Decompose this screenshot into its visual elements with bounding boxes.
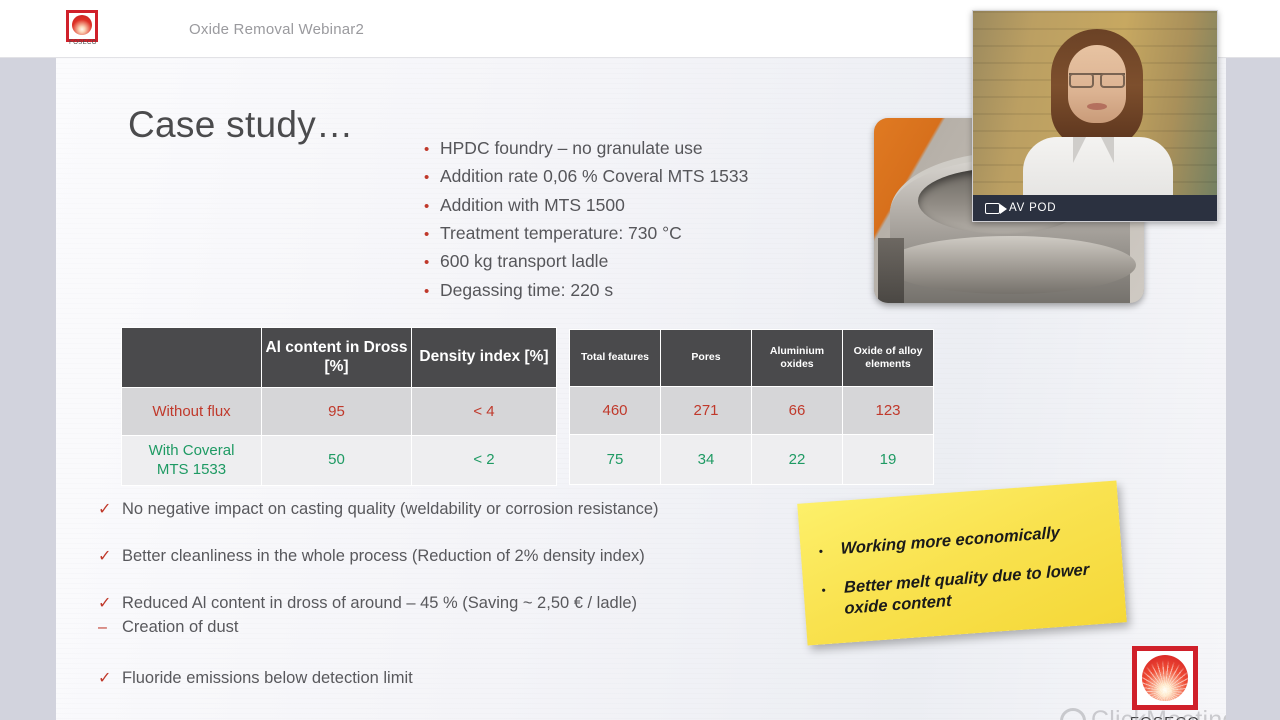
list-item: ✓ Reduced Al content in dross of around … [98, 594, 798, 614]
table-cell: < 2 [412, 436, 557, 486]
check-text: Better cleanliness in the whole process … [122, 547, 645, 567]
header-line2: oxides [756, 358, 838, 371]
bullet-dot-icon: • [424, 284, 440, 299]
bullet-dot-icon: • [424, 142, 440, 157]
list-item: • Working more economically [818, 520, 1101, 562]
presenter-collar-left [1073, 137, 1086, 163]
check-icon: ✓ [98, 549, 122, 565]
table-cell: < 4 [412, 388, 557, 436]
dash-icon: – [98, 620, 122, 636]
bullet-list: • HPDC foundry – no granulate use • Addi… [424, 138, 824, 308]
table-header-cell [122, 328, 262, 388]
table-row: With Coveral MTS 1533 50 < 2 [122, 436, 557, 486]
table-header-cell: Total features [570, 330, 661, 387]
slide-title: Case study… [128, 104, 353, 146]
list-item: • Better melt quality due to lower oxide… [821, 559, 1105, 622]
left-band [0, 58, 56, 720]
table-cell: 460 [570, 387, 661, 435]
clickmeeting-watermark: ClickMeeting [1060, 706, 1226, 720]
list-item: • Addition with MTS 1500 [424, 195, 824, 216]
bullet-text: HPDC foundry – no granulate use [440, 138, 703, 159]
list-item: – Creation of dust [98, 618, 798, 638]
table-cell: 66 [752, 387, 843, 435]
bullet-text: 600 kg transport ladle [440, 251, 608, 272]
row-label: Without flux [122, 388, 262, 436]
bullet-text: Addition rate 0,06 % Coveral MTS 1533 [440, 166, 748, 187]
av-pod-label: AV POD [1009, 202, 1056, 214]
table-cell: 123 [843, 387, 934, 435]
sticky-note: • Working more economically • Better mel… [797, 480, 1127, 645]
header-line1: Total features [574, 351, 656, 364]
logo-wordmark: FOSECO [66, 40, 100, 46]
av-pod-label-bar[interactable]: AV POD [973, 195, 1217, 221]
bullet-dot-icon: • [818, 544, 841, 558]
table-header-row: Total features Pores Aluminium oxides Ox… [570, 330, 934, 387]
bullet-dot-icon: • [821, 583, 844, 597]
logo-orb [72, 15, 92, 35]
webinar-viewer: FOSECO Oxide Removal Webinar2 Case study… [0, 0, 1280, 720]
table-header-row: Al content in Dross [%] Density index [%… [122, 328, 557, 388]
check-icon: ✓ [98, 596, 122, 612]
webinar-title: Oxide Removal Webinar2 [189, 21, 364, 38]
bullet-text: Treatment temperature: 730 °C [440, 223, 682, 244]
header-line2: elements [847, 358, 929, 371]
photo-ladle-rim [884, 236, 1136, 294]
foseco-logo-icon: FOSECO [66, 10, 104, 48]
check-text: Creation of dust [122, 618, 238, 638]
header-line1: Pores [665, 351, 747, 364]
header-line1: Oxide of alloy [847, 345, 929, 358]
table-header-cell: Aluminium oxides [752, 330, 843, 387]
list-item: • 600 kg transport ladle [424, 251, 824, 272]
watermark-text: ClickMeeting [1091, 706, 1226, 720]
results-table-right: Total features Pores Aluminium oxides Ox… [569, 329, 934, 485]
photo-support-post [878, 238, 904, 303]
bullet-text: Addition with MTS 1500 [440, 195, 625, 216]
list-item: • Degassing time: 220 s [424, 280, 824, 301]
check-text: Reduced Al content in dross of around – … [122, 594, 637, 614]
list-item: • HPDC foundry – no granulate use [424, 138, 824, 159]
presenter-glasses [1069, 73, 1125, 84]
table-cell: 75 [570, 435, 661, 485]
bullet-dot-icon: • [424, 199, 440, 214]
check-icon: ✓ [98, 502, 122, 518]
logo-rays [1142, 655, 1188, 701]
list-item: ✓ No negative impact on casting quality … [98, 500, 798, 520]
list-item: • Addition rate 0,06 % Coveral MTS 1533 [424, 166, 824, 187]
row-label-line2: MTS 1533 [122, 461, 261, 480]
table-cell: 95 [262, 388, 412, 436]
table-cell: 19 [843, 435, 934, 485]
header-line1: Aluminium [756, 345, 838, 358]
bullet-dot-icon: • [424, 227, 440, 242]
list-item: ✓ Fluoride emissions below detection lim… [98, 669, 798, 689]
presenter-mouth [1087, 103, 1107, 110]
av-pod-panel[interactable]: AV POD [972, 10, 1218, 222]
table-header-cell: Pores [661, 330, 752, 387]
bullet-dot-icon: • [424, 170, 440, 185]
check-icon: ✓ [98, 671, 122, 687]
table-cell: 271 [661, 387, 752, 435]
table-cell: 22 [752, 435, 843, 485]
check-text: Fluoride emissions below detection limit [122, 669, 413, 689]
table-header-cell: Density index [%] [412, 328, 557, 388]
list-item: ✓ Better cleanliness in the whole proces… [98, 547, 798, 567]
table-header-cell: Al content in Dross [%] [262, 328, 412, 388]
table-cell: 34 [661, 435, 752, 485]
video-camera-icon [985, 203, 1000, 214]
check-text: No negative impact on casting quality (w… [122, 500, 659, 520]
bullet-dot-icon: • [424, 255, 440, 270]
presenter-collar-right [1101, 137, 1114, 163]
bullet-text: Degassing time: 220 s [440, 280, 613, 301]
row-label: With Coveral MTS 1533 [122, 436, 262, 486]
list-item: • Treatment temperature: 730 °C [424, 223, 824, 244]
sticky-note-text: Better melt quality due to lower oxide c… [844, 559, 1104, 620]
table-row: Without flux 95 < 4 [122, 388, 557, 436]
table-header-cell: Oxide of alloy elements [843, 330, 934, 387]
row-label-line1: With Coveral [122, 442, 261, 461]
table-row: 75 34 22 19 [570, 435, 934, 485]
conclusion-list: ✓ No negative impact on casting quality … [98, 500, 798, 689]
sticky-note-text: Working more economically [840, 523, 1060, 560]
right-band [1226, 58, 1280, 720]
clickmeeting-logo-icon [1060, 708, 1086, 720]
results-table-left: Al content in Dross [%] Density index [%… [121, 327, 557, 486]
table-row: 460 271 66 123 [570, 387, 934, 435]
table-cell: 50 [262, 436, 412, 486]
